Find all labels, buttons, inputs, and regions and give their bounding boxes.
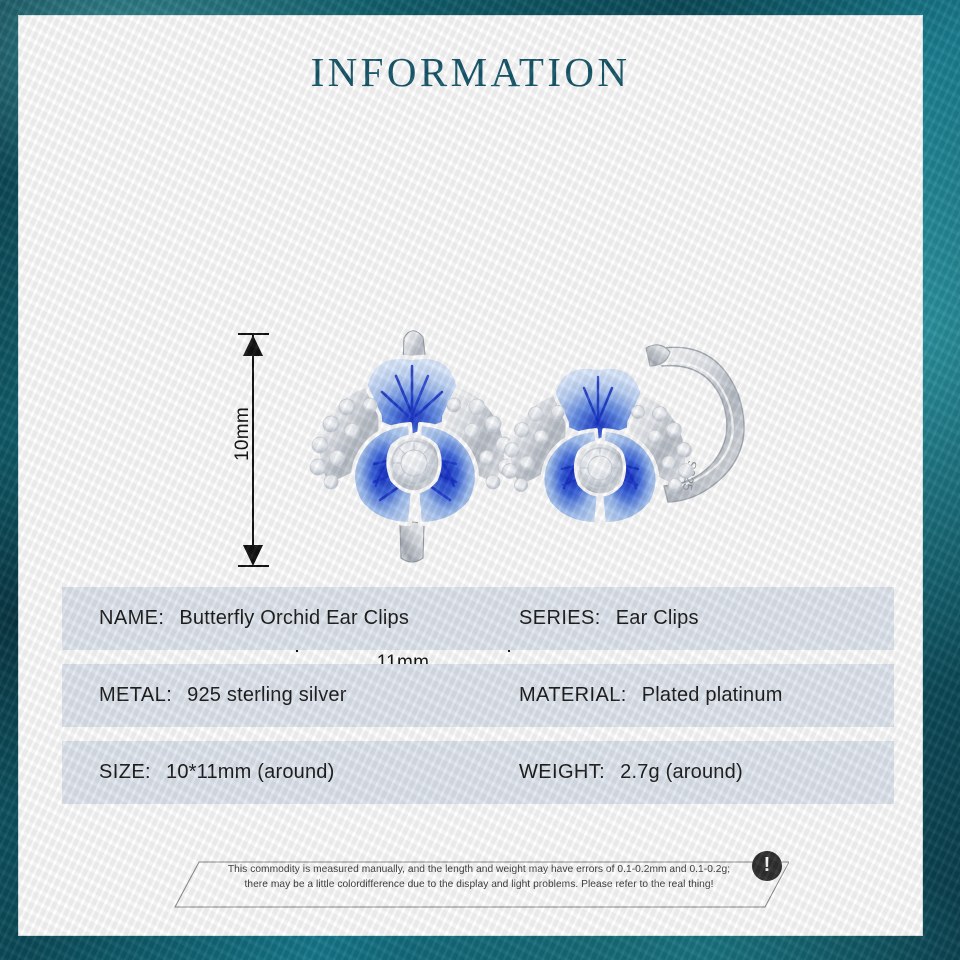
spec-label: MATERIAL: (519, 684, 627, 707)
marble-border-frame: INFORMATION 10mm 11mm (0, 0, 960, 960)
table-row: SIZE: 10*11mm (around) WEIGHT: 2.7g (aro… (62, 741, 894, 804)
product-photo-area: 10mm 11mm (19, 156, 922, 556)
earring-front-view (310, 331, 514, 562)
spec-cell-metal: METAL: 925 sterling silver (99, 684, 519, 707)
table-row: NAME: Butterfly Orchid Ear Clips SERIES:… (62, 587, 894, 650)
spec-label: NAME: (99, 607, 164, 630)
spec-label: WEIGHT: (519, 761, 605, 784)
spec-cell-name: NAME: Butterfly Orchid Ear Clips (99, 607, 519, 630)
information-card: INFORMATION 10mm 11mm (19, 16, 922, 935)
spec-cell-series: SERIES: Ear Clips (519, 607, 699, 630)
spec-cell-weight: WEIGHT: 2.7g (around) (519, 761, 743, 784)
arrow-down-icon (243, 545, 263, 566)
spec-value: Plated platinum (642, 684, 783, 707)
spec-label: SIZE: (99, 761, 151, 784)
alert-icon: ! (752, 851, 782, 881)
spec-value: Ear Clips (616, 607, 699, 630)
product-image-earrings: S925 (274, 306, 794, 596)
spec-value: Butterfly Orchid Ear Clips (179, 607, 409, 630)
table-row: METAL: 925 sterling silver MATERIAL: Pla… (62, 664, 894, 727)
spec-value: 925 sterling silver (187, 684, 346, 707)
arrow-up-icon (243, 335, 263, 356)
spec-value: 10*11mm (around) (166, 761, 334, 784)
earring-hoop-view: S925 (503, 345, 744, 524)
disclaimer-text: This commodity is measured manually, and… (211, 862, 747, 892)
spec-label: SERIES: (519, 607, 601, 630)
spec-cell-size: SIZE: 10*11mm (around) (99, 761, 519, 784)
spec-table: NAME: Butterfly Orchid Ear Clips SERIES:… (62, 587, 894, 818)
spec-cell-material: MATERIAL: Plated platinum (519, 684, 783, 707)
spec-label: METAL: (99, 684, 172, 707)
dimension-vertical-cap-bottom (238, 565, 269, 567)
disclaimer-banner: This commodity is measured manually, and… (169, 849, 789, 911)
disclaimer-line-1: This commodity is measured manually, and… (211, 862, 747, 877)
page-title: INFORMATION (19, 48, 922, 96)
dimension-vertical-label: 10mm (232, 407, 254, 461)
alert-icon-glyph: ! (764, 855, 771, 875)
disclaimer-line-2: there may be a little colordifference du… (211, 877, 747, 892)
spec-value: 2.7g (around) (620, 761, 743, 784)
